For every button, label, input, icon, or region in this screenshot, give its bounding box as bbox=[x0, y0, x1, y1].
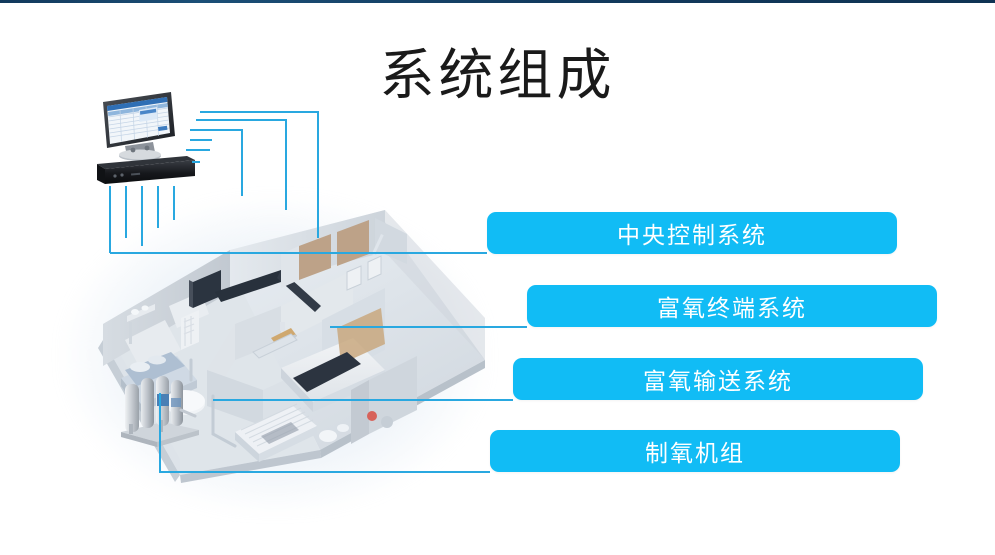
slide-canvas: 系统组成 bbox=[0, 0, 995, 555]
callout-central-control[interactable]: 中央控制系统 bbox=[487, 212, 897, 254]
callout-oxygen-generator[interactable]: 制氧机组 bbox=[490, 430, 900, 472]
callout-oxygen-terminal[interactable]: 富氧终端系统 bbox=[527, 285, 937, 327]
oxygen-generator-unit bbox=[115, 370, 205, 450]
top-accent-strip bbox=[0, 0, 995, 3]
isometric-apartment-cutaway bbox=[85, 210, 485, 500]
monitor-server-workstation bbox=[95, 88, 205, 186]
callout-oxygen-delivery[interactable]: 富氧输送系统 bbox=[513, 358, 923, 400]
